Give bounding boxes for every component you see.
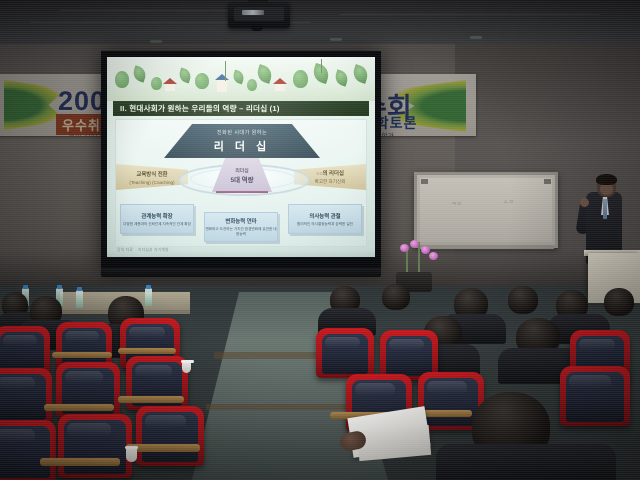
whiteboard-marker-tray	[418, 245, 554, 249]
auditorium-seat	[58, 414, 132, 478]
box-2-detail: 변화하고 도전하는 가치관 환경변화에 유연한 대응능력	[205, 227, 277, 237]
diagram-box-2: 변화능력 연마 변화하고 도전하는 가치관 환경변화에 유연한 대응능력	[204, 212, 278, 242]
seat-armrest	[40, 458, 120, 466]
box-1-header: 관계능력 확장	[141, 212, 172, 220]
diagram-top-banner: 진화된 시대가 원하는 리 더 십	[164, 124, 320, 158]
leaf-icon	[255, 64, 274, 84]
seat-armrest	[118, 348, 176, 354]
ceiling-light	[330, 38, 342, 41]
ceiling-light	[150, 40, 162, 43]
ceiling-seam	[340, 14, 600, 15]
diagram-box-3: 의사능력 관철 합리적인 의사결정능력과 강력한 실천	[288, 204, 362, 234]
audience-head	[604, 288, 634, 316]
stem-icon	[321, 59, 322, 73]
orchid-bloom	[400, 244, 409, 252]
box-3-header: 의사능력 관철	[309, 212, 340, 220]
tree-icon	[195, 73, 209, 89]
seat-armrest	[118, 396, 184, 403]
diagram-top-subtitle: 진화된 시대가 원하는	[217, 129, 267, 136]
whiteboard-scribble: ㅋㅇ	[451, 199, 462, 208]
whiteboard-surface	[420, 178, 552, 242]
tree-icon	[151, 77, 162, 90]
slide-diagram: 진화된 시대가 원하는 리 더 십 교육방식 전환 (Teaching) (Co…	[115, 119, 367, 247]
presenter-tie	[603, 199, 607, 219]
house-icon	[275, 83, 285, 91]
tree-icon	[247, 79, 257, 91]
seat-armrest	[52, 352, 112, 358]
auditorium-seat	[136, 406, 204, 466]
projector-lens	[251, 25, 263, 31]
slide-header-illustration	[107, 57, 375, 101]
leaf-icon	[351, 64, 370, 84]
whiteboard-scribble: ㅅㅇ	[503, 197, 514, 206]
slide-title: II. 현대사회가 원하는 우리들의 역량 – 리더십 (1)	[113, 103, 280, 114]
leaf-icon	[231, 70, 245, 85]
ceiling-light	[470, 36, 482, 39]
audience-shoulders-foreground	[436, 444, 616, 480]
diagram-wing-left: 교육방식 전환 (Teaching) (Coaching)	[116, 164, 188, 190]
center-underline	[216, 191, 268, 193]
orchid-stem	[418, 242, 420, 274]
ceiling	[0, 0, 640, 46]
auditorium-seat	[316, 328, 374, 378]
tree-icon	[293, 70, 308, 88]
auditorium-seat	[560, 366, 630, 426]
center-line-1: 리더십	[235, 167, 248, 174]
auditorium-seat	[0, 368, 52, 424]
orchid-bloom	[421, 246, 430, 254]
water-bottle	[76, 290, 83, 308]
box-1-detail: 다양한 계층과의 신뢰관계 지속적인 관계 확장	[123, 222, 191, 227]
orchid-bloom	[429, 252, 438, 260]
diagram-box-1: 관계능력 확장 다양한 계층과의 신뢰관계 지속적인 관계 확장	[120, 204, 194, 234]
wing-right-sub: 확고한 자기신뢰	[315, 179, 346, 185]
whiteboard: ㅋㅇ ㅅㅇ	[414, 172, 558, 248]
slide-title-bar: II. 현대사회가 원하는 우리들의 역량 – 리더십 (1)	[113, 101, 369, 116]
stem-icon	[225, 61, 226, 81]
seat-armrest	[44, 404, 114, 411]
audience-head	[382, 284, 410, 310]
wing-left-title: 교육방식 전환	[136, 170, 167, 178]
presenter-hair	[596, 174, 617, 185]
wing-right-title: ○○의 리더십	[316, 169, 344, 177]
auditorium-seat	[0, 420, 56, 480]
orchid-bloom	[410, 240, 419, 248]
leaf-icon	[333, 69, 350, 86]
whiteboard-corner	[544, 179, 551, 184]
handout-papers	[357, 425, 431, 461]
coffee-cup	[182, 362, 191, 373]
tree-icon	[115, 71, 129, 88]
house-icon	[165, 83, 175, 91]
center-line-2: 5대 역량	[231, 175, 254, 184]
box-2-header: 변화능력 연마	[225, 217, 256, 225]
coffee-cup	[126, 448, 137, 462]
presentation-slide: II. 현대사회가 원하는 우리들의 역량 – 리더십 (1) 진화된 시대가 …	[107, 57, 375, 257]
leaf-icon	[177, 67, 192, 83]
projector-lens-glint	[242, 10, 264, 15]
presenter-hand	[580, 198, 589, 207]
diagram-top-title: 리 더 십	[214, 138, 270, 154]
lecture-hall-photo: 200 수회 우수취업 공전학토론 일시 2009. 학교 환경공학과	[0, 0, 640, 480]
water-bottle	[145, 288, 152, 306]
diagram-center-block: 리더십 5대 역량	[212, 158, 272, 192]
whiteboard-corner	[421, 179, 428, 184]
audience-head	[508, 286, 538, 314]
wing-left-sub: (Teaching) (Coaching)	[129, 180, 174, 185]
box-3-detail: 합리적인 의사결정능력과 강력한 실천	[297, 222, 353, 227]
leaf-icon	[131, 65, 148, 82]
